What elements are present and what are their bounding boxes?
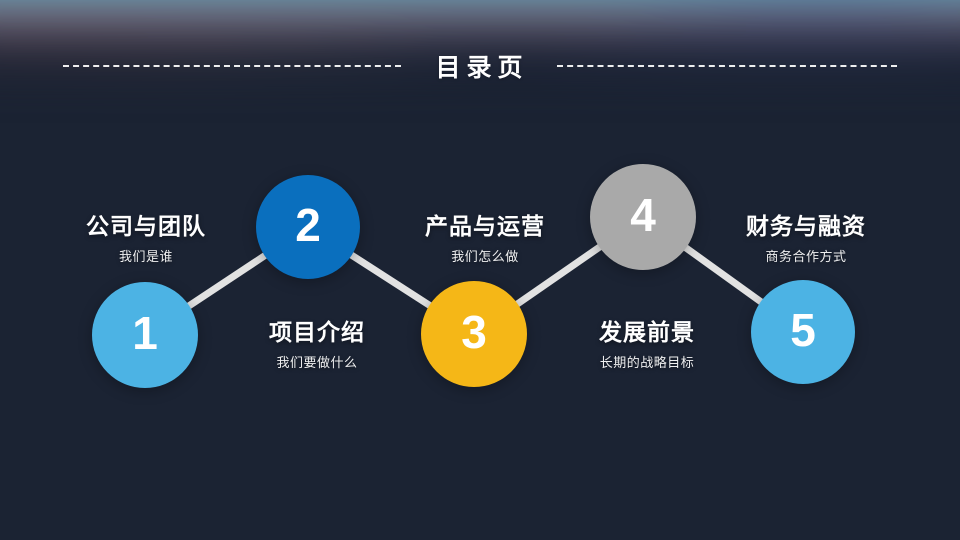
toc-label-title: 财务与融资 bbox=[746, 207, 866, 241]
toc-node-number: 1 bbox=[132, 310, 158, 356]
toc-label-title: 项目介绍 bbox=[269, 313, 365, 347]
toc-node-4[interactable]: 4 bbox=[590, 164, 696, 270]
toc-node-number: 2 bbox=[295, 202, 321, 248]
toc-label-title: 发展前景 bbox=[599, 313, 695, 347]
toc-node-1[interactable]: 1 bbox=[92, 282, 198, 388]
toc-label-4[interactable]: 发展前景长期的战略目标 bbox=[599, 313, 695, 371]
toc-label-1[interactable]: 公司与团队我们是谁 bbox=[86, 207, 206, 265]
toc-label-subtitle: 我们怎么做 bbox=[425, 246, 545, 265]
toc-label-subtitle: 商务合作方式 bbox=[746, 246, 866, 265]
toc-node-number: 4 bbox=[630, 192, 656, 238]
toc-label-5[interactable]: 财务与融资商务合作方式 bbox=[746, 207, 866, 265]
toc-diagram: 12345 公司与团队我们是谁项目介绍我们要做什么产品与运营我们怎么做发展前景长… bbox=[0, 0, 960, 540]
toc-node-3[interactable]: 3 bbox=[421, 281, 527, 387]
toc-label-2[interactable]: 项目介绍我们要做什么 bbox=[269, 313, 365, 371]
toc-label-title: 公司与团队 bbox=[86, 207, 206, 241]
toc-label-3[interactable]: 产品与运营我们怎么做 bbox=[425, 207, 545, 265]
connector-2-to-3 bbox=[348, 253, 432, 307]
toc-label-subtitle: 我们要做什么 bbox=[269, 352, 365, 371]
toc-node-2[interactable]: 2 bbox=[256, 175, 360, 279]
slide-canvas: 目录页 12345 公司与团队我们是谁项目介绍我们要做什么产品与运营我们怎么做发… bbox=[0, 0, 960, 540]
toc-label-title: 产品与运营 bbox=[425, 207, 545, 241]
toc-node-number: 5 bbox=[790, 307, 816, 353]
toc-label-subtitle: 长期的战略目标 bbox=[599, 352, 695, 371]
connector-lines bbox=[0, 0, 960, 540]
toc-node-5[interactable]: 5 bbox=[751, 280, 855, 384]
toc-label-subtitle: 我们是谁 bbox=[86, 246, 206, 265]
toc-node-number: 3 bbox=[461, 309, 487, 355]
